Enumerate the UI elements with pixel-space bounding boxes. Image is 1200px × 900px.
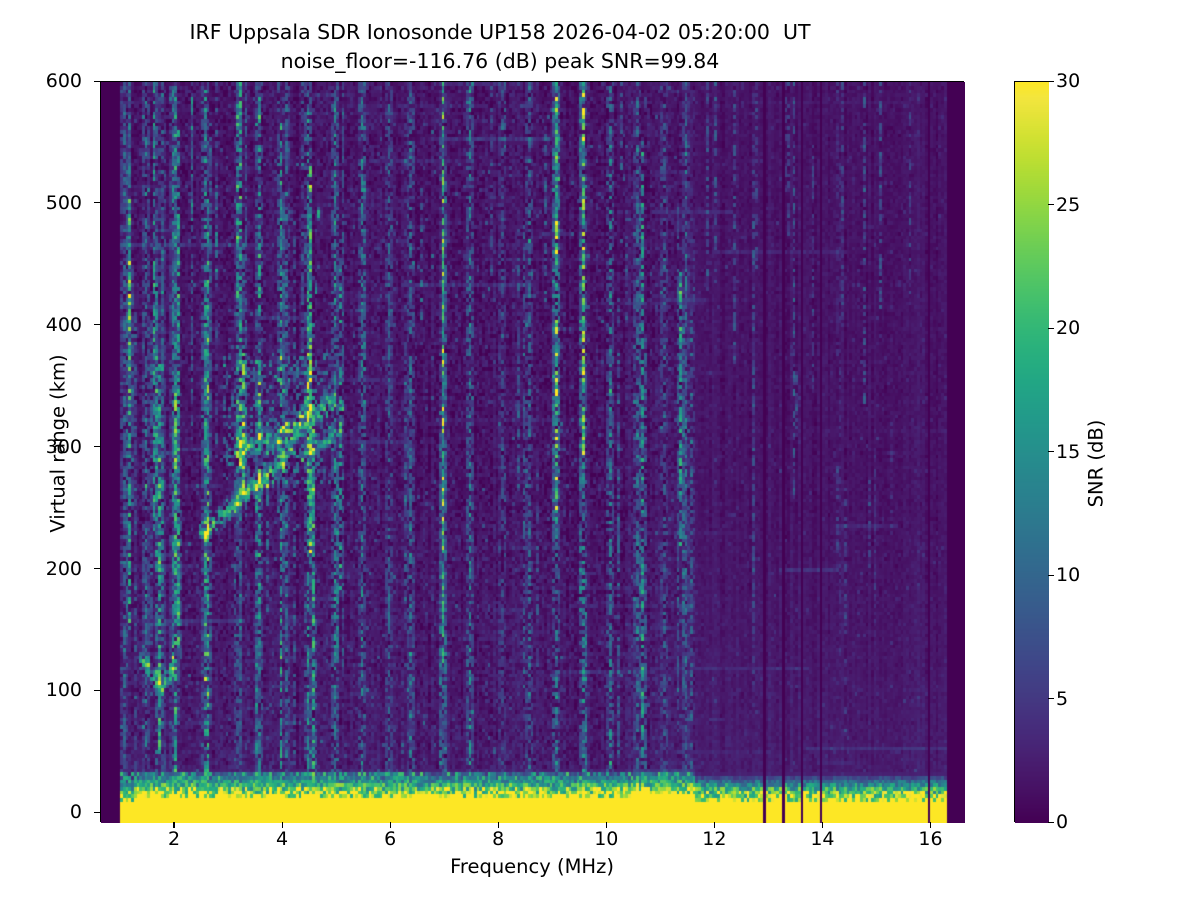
x-tick-label: 6 xyxy=(384,828,396,850)
x-tick-mark xyxy=(930,822,931,828)
colorbar-tick-marks xyxy=(1048,81,1056,822)
x-tick-mark xyxy=(390,822,391,828)
figure-title: IRF Uppsala SDR Ionosonde UP158 2026-04-… xyxy=(0,18,1000,76)
colorbar-tick-label: 0 xyxy=(1056,811,1068,833)
colorbar xyxy=(1014,81,1048,822)
colorbar-gradient xyxy=(1015,82,1049,823)
x-tick-label: 2 xyxy=(168,828,180,850)
ionogram-figure: IRF Uppsala SDR Ionosonde UP158 2026-04-… xyxy=(0,0,1200,900)
x-tick-mark xyxy=(173,822,174,828)
y-tick-mark xyxy=(94,324,100,325)
title-line-stats: noise_floor=-116.76 (dB) peak SNR=99.84 xyxy=(0,47,1000,76)
ionogram-plot-area xyxy=(100,81,964,822)
y-tick-mark xyxy=(94,812,100,813)
x-tick-label: 12 xyxy=(702,828,726,850)
colorbar-tick-label: 10 xyxy=(1056,564,1080,586)
x-tick-mark xyxy=(714,822,715,828)
y-tick-mark xyxy=(94,202,100,203)
colorbar-tick-mark xyxy=(1048,575,1054,576)
x-tick-label: 14 xyxy=(810,828,834,850)
colorbar-tick-label: 5 xyxy=(1056,688,1068,710)
x-axis-tick-marks xyxy=(100,822,964,830)
colorbar-tick-label: 25 xyxy=(1056,194,1080,216)
colorbar-tick-mark xyxy=(1048,451,1054,452)
x-tick-mark xyxy=(822,822,823,828)
colorbar-tick-mark xyxy=(1048,822,1054,823)
colorbar-tick-label: 15 xyxy=(1056,441,1080,463)
y-tick-mark xyxy=(94,81,100,82)
x-tick-mark xyxy=(606,822,607,828)
y-tick-mark xyxy=(94,690,100,691)
x-tick-label: 8 xyxy=(492,828,504,850)
colorbar-tick-mark xyxy=(1048,698,1054,699)
colorbar-label: SNR (dB) xyxy=(1085,114,1108,814)
x-tick-mark xyxy=(282,822,283,828)
x-tick-label: 4 xyxy=(276,828,288,850)
x-axis-tick-labels: 246810121416 xyxy=(100,828,964,858)
ionogram-heatmap xyxy=(101,82,965,823)
title-line-main: IRF Uppsala SDR Ionosonde UP158 2026-04-… xyxy=(0,18,1000,47)
y-axis-label: Virtual range (km) xyxy=(47,94,70,794)
y-tick-mark xyxy=(94,446,100,447)
y-tick-mark xyxy=(94,568,100,569)
x-axis-label: Frequency (MHz) xyxy=(100,855,964,878)
x-tick-label: 10 xyxy=(594,828,618,850)
colorbar-tick-mark xyxy=(1048,81,1054,82)
x-tick-mark xyxy=(498,822,499,828)
x-tick-label: 16 xyxy=(918,828,942,850)
colorbar-tick-label: 30 xyxy=(1056,70,1080,92)
colorbar-tick-mark xyxy=(1048,328,1054,329)
colorbar-tick-mark xyxy=(1048,204,1054,205)
colorbar-tick-label: 20 xyxy=(1056,317,1080,339)
